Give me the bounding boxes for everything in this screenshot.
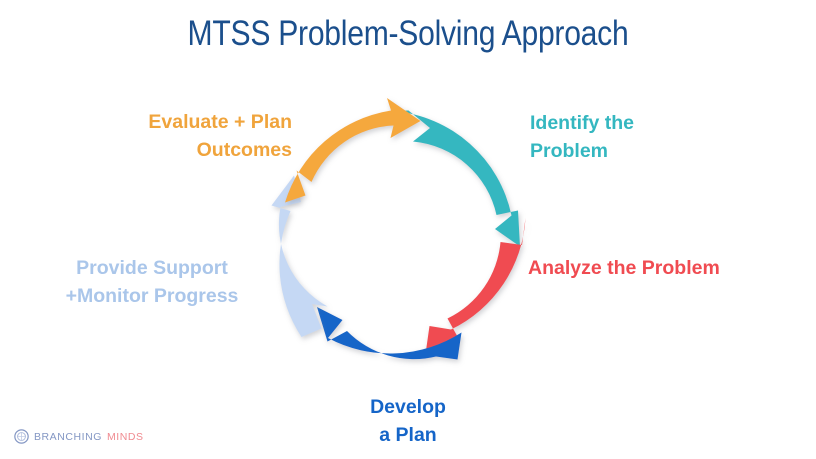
cycle-label-provide-support-monitor-progress: Provide Support +Monitor Progress — [24, 255, 280, 310]
cycle-segment-identify-the-problem[interactable] — [394, 111, 521, 247]
cycle-segment-evaluate-plan-outcomes[interactable] — [285, 98, 421, 203]
brand-logo-minds-text: MINDS — [107, 431, 144, 443]
brand-logo: BRANCHING MINDS — [14, 429, 144, 444]
cycle-label-evaluate-plan-outcomes: Evaluate + Plan Outcomes — [46, 109, 292, 164]
slide-canvas: MTSS Problem-Solving Approach Evaluate +… — [0, 0, 816, 459]
cycle-label-analyze-the-problem: Analyze the Problem — [528, 255, 804, 283]
cycle-label-identify-the-problem: Identify the Problem — [530, 110, 770, 165]
mtss-cycle-diagram — [271, 98, 547, 384]
brand-logo-branching-text: BRANCHING — [34, 431, 102, 443]
page-title: MTSS Problem-Solving Approach — [57, 14, 759, 54]
cycle-label-develop-a-plan: Develop a Plan — [308, 394, 508, 449]
branching-minds-circle-icon — [14, 429, 29, 444]
